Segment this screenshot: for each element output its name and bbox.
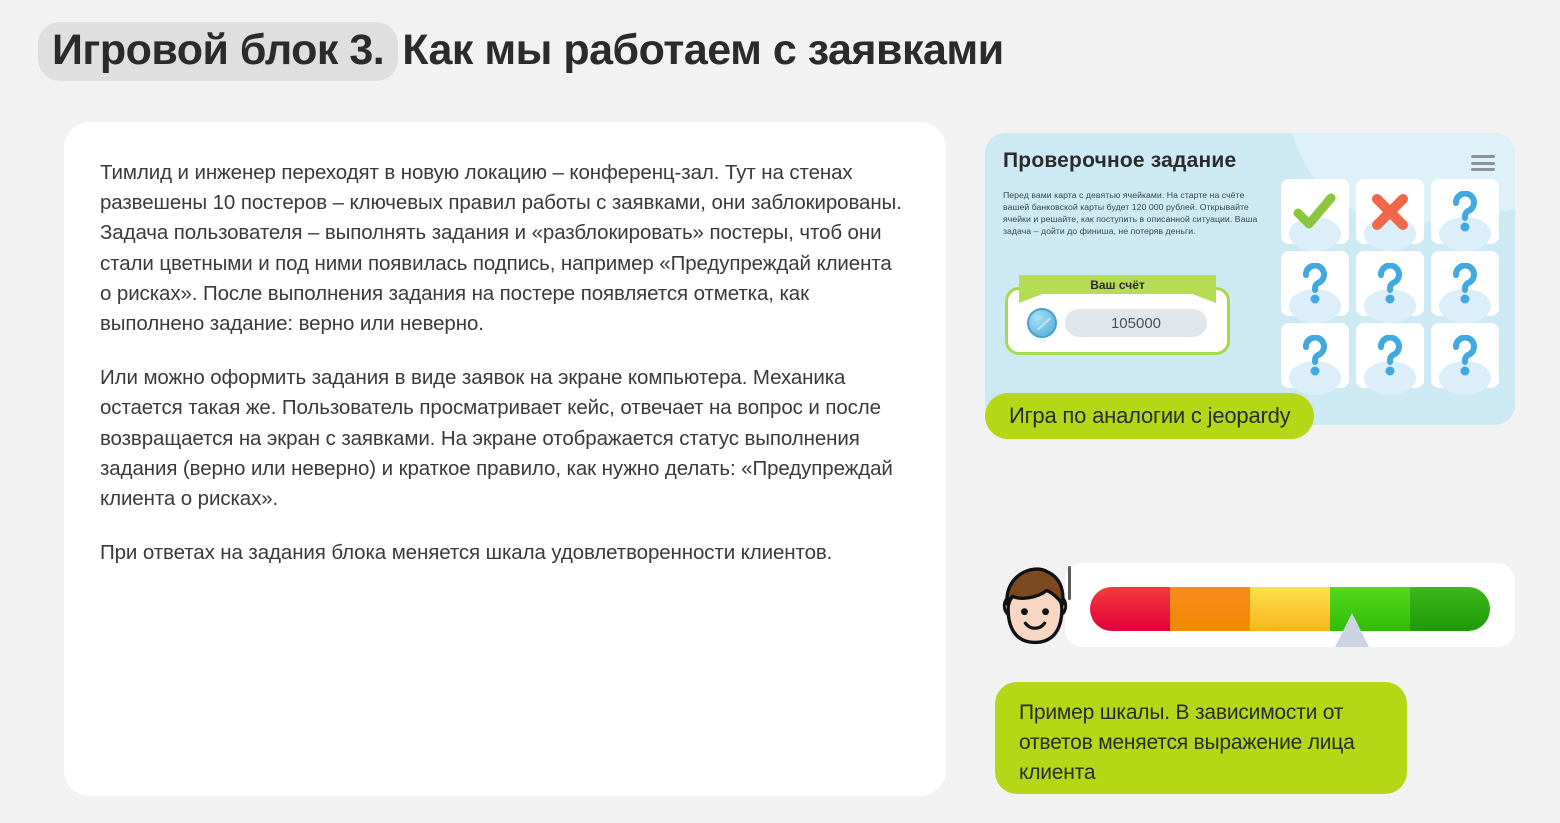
grid-cell-wrong[interactable]: [1356, 179, 1424, 244]
scale-segment-medium: [1250, 587, 1330, 631]
account-label: Ваш счёт: [1090, 278, 1145, 292]
scale-pointer-icon[interactable]: [1335, 613, 1369, 647]
account-value: 105000: [1065, 309, 1207, 337]
coin-icon: [1027, 308, 1057, 338]
caption-scale-note-label: Пример шкалы. В зависимости от ответов м…: [1019, 698, 1383, 788]
paragraph-3: При ответах на задания блока меняется шк…: [100, 538, 904, 568]
grid-cell-unknown[interactable]: [1281, 323, 1349, 388]
cross-icon: [1370, 192, 1410, 232]
account-panel: Ваш счёт 105000: [1005, 275, 1230, 355]
scale-segment-very-high: [1410, 587, 1490, 631]
page-title-rest: Как мы работаем с заявками: [398, 26, 1003, 74]
hamburger-menu-icon[interactable]: [1471, 155, 1495, 171]
page-title: Игровой блок 3.Как мы работаем с заявкам…: [48, 26, 1004, 75]
scale-segment-low: [1170, 587, 1250, 631]
question-icon: [1450, 335, 1480, 377]
scale-segment-very-low: [1090, 587, 1170, 631]
caption-jeopardy: Игра по аналогии с jeopardy: [985, 393, 1314, 439]
grid-cell-unknown[interactable]: [1356, 323, 1424, 388]
game-card-description: Перед вами карта с девятью ячейками. На …: [1003, 189, 1271, 237]
grid-cell-unknown[interactable]: [1281, 251, 1349, 316]
caption-scale-note: Пример шкалы. В зависимости от ответов м…: [995, 682, 1407, 794]
question-icon: [1300, 335, 1330, 377]
scale-bar: [1090, 587, 1490, 631]
paragraph-2: Или можно оформить задания в виде заявок…: [100, 363, 904, 514]
question-icon: [1375, 335, 1405, 377]
game-card-title: Проверочное задание: [1003, 149, 1236, 173]
client-face-icon: [987, 556, 1083, 652]
slide-root: Игровой блок 3.Как мы работаем с заявкам…: [0, 0, 1560, 823]
grid-cell-unknown[interactable]: [1431, 179, 1499, 244]
game-mockup-card: Проверочное задание Перед вами карта с д…: [985, 133, 1515, 425]
satisfaction-scale: [1065, 563, 1515, 647]
question-icon: [1375, 263, 1405, 305]
question-icon: [1450, 191, 1480, 233]
page-title-highlight: Игровой блок 3.: [38, 22, 398, 81]
question-icon: [1450, 263, 1480, 305]
grid-cell-unknown[interactable]: [1356, 251, 1424, 316]
grid-cell-correct[interactable]: [1281, 179, 1349, 244]
grid-cell-unknown[interactable]: [1431, 323, 1499, 388]
question-grid: [1281, 179, 1499, 388]
grid-cell-unknown[interactable]: [1431, 251, 1499, 316]
question-icon: [1300, 263, 1330, 305]
description-card: Тимлид и инженер переходят в новую локац…: [64, 122, 946, 796]
check-icon: [1293, 192, 1337, 232]
paragraph-1: Тимлид и инженер переходят в новую локац…: [100, 158, 904, 339]
caption-jeopardy-label: Игра по аналогии с jeopardy: [1009, 403, 1290, 429]
